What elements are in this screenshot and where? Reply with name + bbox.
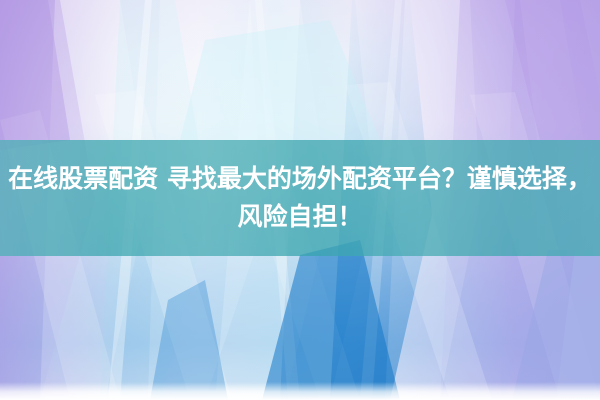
- banner-image: 在线股票配资 寻找最大的场外配资平台？谨慎选择，风险自担！: [0, 0, 600, 400]
- headline-band: 在线股票配资 寻找最大的场外配资平台？谨慎选择，风险自担！: [0, 140, 600, 256]
- watermark-text: [282, 382, 326, 398]
- headline-line-1: 在线股票配资 寻找最大的场外配资平台？谨慎选择: [8, 164, 567, 193]
- page-title: 在线股票配资 寻找最大的场外配资平台？谨慎选择，风险自担！: [2, 160, 598, 236]
